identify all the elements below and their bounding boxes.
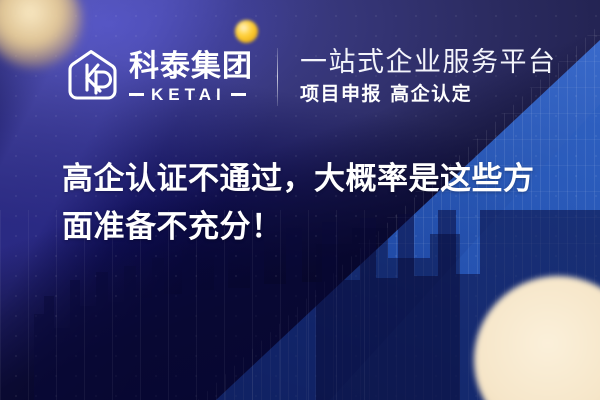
tagline-main: 一站式企业服务平台 (300, 48, 557, 78)
brand-name-en-row: KETAI (129, 86, 253, 103)
wordmark-rule-right (231, 93, 246, 96)
headline-text: 高企认证不通过，大概率是这些方面准备不充分！ (62, 155, 562, 251)
brand-name-en: KETAI (144, 86, 231, 103)
header-divider (277, 48, 278, 106)
wordmark-rule-left (129, 93, 144, 96)
tagline-block: 一站式企业服务平台 项目申报 高企认定 (300, 48, 557, 107)
banner-header: 科泰集团 KETAI 一站式企业服务平台 项目申报 高企认定 (62, 40, 557, 114)
ketai-diamond-monogram-icon (62, 48, 120, 106)
tagline-sub: 项目申报 高企认定 (300, 83, 557, 107)
brand-name-cn: 科泰集团 (129, 51, 253, 82)
promo-banner: 科泰集团 KETAI 一站式企业服务平台 项目申报 高企认定 高企认证不通过，大… (0, 0, 600, 400)
brand-logo[interactable]: 科泰集团 KETAI (62, 48, 253, 106)
brand-wordmark: 科泰集团 KETAI (129, 51, 253, 102)
